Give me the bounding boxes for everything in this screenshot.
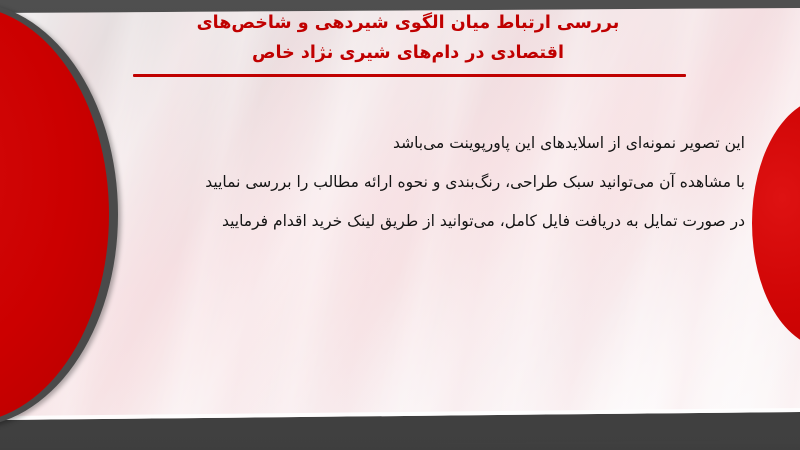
slide-title-line-1: بررسی ارتباط میان الگوی شیردهی و شاخص‌ها…: [120, 8, 696, 38]
body-text-line-1: این تصویر نمونه‌ای از اسلایدهای این پاور…: [40, 124, 745, 163]
slide-title-line-2: اقتصادی در دام‌های شیری نژاد خاص: [120, 38, 696, 68]
presentation-slide: بررسی ارتباط میان الگوی شیردهی و شاخص‌ها…: [0, 0, 800, 450]
body-text-line-2: با مشاهده آن می‌توانید سبک طراحی، رنگ‌بن…: [40, 163, 745, 202]
body-text-line-3: در صورت تمایل به دریافت فایل کامل، می‌تو…: [40, 202, 745, 241]
slide-title: بررسی ارتباط میان الگوی شیردهی و شاخص‌ها…: [120, 8, 696, 68]
slide-body-text: این تصویر نمونه‌ای از اسلایدهای این پاور…: [40, 124, 745, 241]
title-underline-rule: [133, 74, 686, 77]
